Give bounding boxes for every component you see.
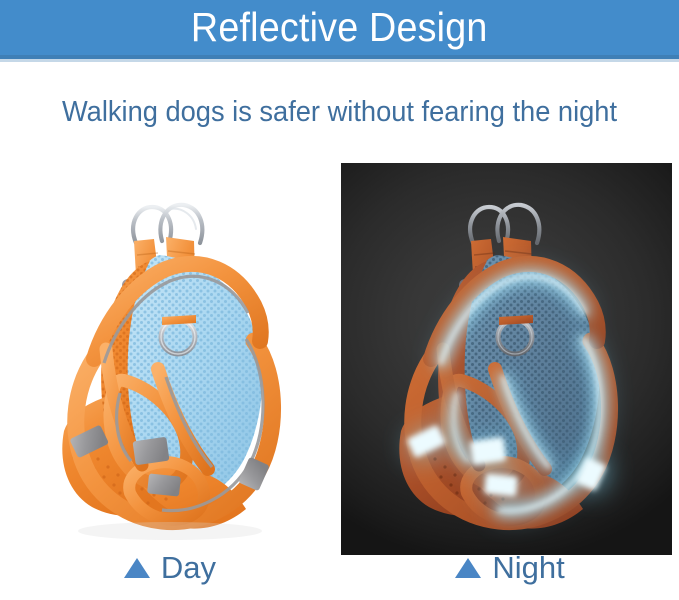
day-image-panel xyxy=(10,163,332,555)
metal-clip-highlight xyxy=(170,209,196,229)
day-caption-label: Day xyxy=(161,552,216,583)
reflective-patch-2 xyxy=(132,437,169,465)
night-image-panel xyxy=(341,163,672,555)
night-caption-label: Night xyxy=(492,552,564,583)
reflective-patch-3 xyxy=(147,473,181,496)
caption-row: Day Night xyxy=(0,552,679,600)
page-title: Reflective Design xyxy=(191,7,488,48)
triangle-up-icon xyxy=(124,558,150,578)
day-contact-shadow xyxy=(78,522,262,540)
night-harness-illustration xyxy=(341,163,672,555)
triangle-up-icon xyxy=(455,558,481,578)
night-caption: Night xyxy=(341,552,679,583)
header-underline-light xyxy=(0,59,679,62)
subtitle-text: Walking dogs is safer without fearing th… xyxy=(20,96,658,129)
reflective-patch-3-night xyxy=(484,473,518,496)
day-caption: Day xyxy=(0,552,340,583)
day-harness-illustration xyxy=(10,163,332,555)
header-banner: Reflective Design xyxy=(0,0,679,55)
reflective-patch-2-night xyxy=(469,437,506,465)
comparison-panels xyxy=(0,150,679,550)
